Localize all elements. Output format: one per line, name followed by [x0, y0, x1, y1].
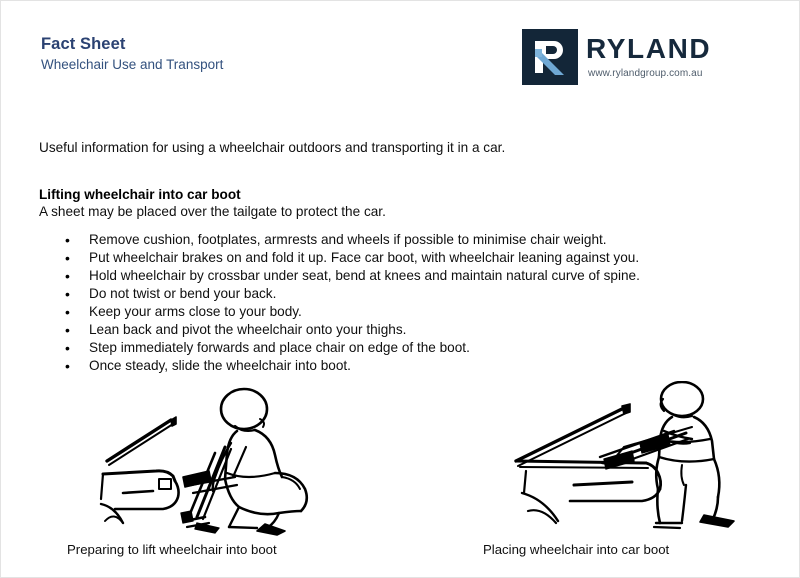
intro-paragraph: Useful information for using a wheelchai… — [39, 139, 505, 157]
figure-caption: Placing wheelchair into car boot — [483, 541, 669, 559]
bullet-icon: • — [65, 303, 89, 321]
page-header: Fact Sheet Wheelchair Use and Transport … — [1, 1, 800, 111]
list-item-label: Remove cushion, footplates, armrests and… — [89, 231, 765, 249]
brand-url: www.rylandgroup.com.au — [588, 67, 702, 80]
bullet-icon: • — [65, 357, 89, 375]
list-item-label: Keep your arms close to your body. — [89, 303, 765, 321]
bullet-icon: • — [65, 321, 89, 339]
fact-sheet-page: Fact Sheet Wheelchair Use and Transport … — [0, 0, 800, 578]
brand-wordmark: RYLAND — [586, 33, 711, 65]
section-subtext: A sheet may be placed over the tailgate … — [39, 203, 386, 221]
list-item-label: Hold wheelchair by crossbar under seat, … — [89, 267, 765, 285]
section-heading: Lifting wheelchair into car boot — [39, 186, 241, 204]
illustration-row: Preparing to lift wheelchair into boot — [1, 381, 800, 578]
placing-into-boot-illustration — [496, 381, 771, 536]
list-item-label: Lean back and pivot the wheelchair onto … — [89, 321, 765, 339]
header-titles: Fact Sheet Wheelchair Use and Transport — [41, 34, 223, 74]
list-item: • Put wheelchair brakes on and fold it u… — [65, 249, 765, 267]
brand-logo: RYLAND www.rylandgroup.com.au — [522, 29, 767, 91]
list-item-label: Step immediately forwards and place chai… — [89, 339, 765, 357]
list-item: • Keep your arms close to your body. — [65, 303, 765, 321]
bullet-icon: • — [65, 285, 89, 303]
list-item: • Remove cushion, footplates, armrests a… — [65, 231, 765, 249]
page-subtitle: Wheelchair Use and Transport — [41, 55, 223, 74]
list-item: • Once steady, slide the wheelchair into… — [65, 357, 765, 375]
bullet-icon: • — [65, 339, 89, 357]
preparing-to-lift-illustration — [79, 381, 379, 536]
ryland-logo-mark-icon — [522, 29, 578, 85]
instruction-list: • Remove cushion, footplates, armrests a… — [65, 231, 765, 375]
list-item: • Hold wheelchair by crossbar under seat… — [65, 267, 765, 285]
list-item-label: Do not twist or bend your back. — [89, 285, 765, 303]
figure-preparing-to-lift: Preparing to lift wheelchair into boot — [79, 381, 379, 536]
list-item: • Step immediately forwards and place ch… — [65, 339, 765, 357]
bullet-icon: • — [65, 267, 89, 285]
list-item-label: Put wheelchair brakes on and fold it up.… — [89, 249, 765, 267]
figure-caption: Preparing to lift wheelchair into boot — [67, 541, 277, 559]
list-item: • Do not twist or bend your back. — [65, 285, 765, 303]
bullet-icon: • — [65, 249, 89, 267]
list-item: • Lean back and pivot the wheelchair ont… — [65, 321, 765, 339]
bullet-icon: • — [65, 231, 89, 249]
figure-placing-into-boot: Placing wheelchair into car boot — [496, 381, 771, 536]
page-title: Fact Sheet — [41, 34, 223, 54]
list-item-label: Once steady, slide the wheelchair into b… — [89, 357, 765, 375]
